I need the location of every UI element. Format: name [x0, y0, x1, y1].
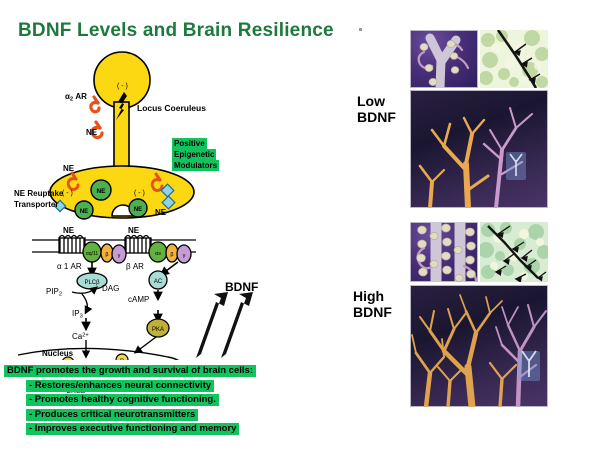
svg-text:P: P [120, 359, 124, 360]
svg-text:αs: αs [155, 251, 161, 257]
pip2-label: PIP2 [46, 287, 62, 297]
svg-text:γ: γ [118, 253, 121, 259]
dendrite-microscopy-low [480, 30, 548, 88]
svg-text:( - ): ( - ) [62, 190, 73, 197]
signaling-diagram: ( - ) ( - ) ( - ) NE NE NE [0, 40, 330, 360]
svg-text:β: β [105, 252, 108, 258]
ne-label-terminal-right: NE [155, 208, 166, 217]
ne-label-membrane-left: NE [63, 226, 74, 235]
dag-label: DAG [102, 284, 119, 293]
bdnf-upregulation-arrows [196, 292, 253, 358]
svg-text:NE: NE [96, 188, 106, 195]
ne-label-soma: NE [63, 164, 74, 173]
g-protein-alpha1: αq/11 β γ [83, 242, 126, 263]
svg-text:NE: NE [134, 207, 142, 213]
page-title: BDNF Levels and Brain Resilience [18, 20, 334, 42]
dendritic-spine-render-high [410, 222, 478, 282]
gpcr-helices-beta [125, 236, 151, 254]
nucleus-label: Nucleus [42, 349, 73, 358]
svg-text:AC: AC [154, 279, 163, 285]
dendritic-spine-render-low [410, 30, 478, 88]
svg-text:PKA: PKA [152, 327, 164, 333]
calcium-label: Ca2+ [72, 332, 89, 341]
list-item: - Produces critical neurotransmitters [26, 409, 198, 421]
pem-line-2: Epigenetic [172, 149, 216, 160]
bdnf-benefits-list: BDNF promotes the growth and survival of… [4, 365, 324, 438]
svg-text:( - ): ( - ) [117, 83, 128, 90]
svg-text:( - ): ( - ) [134, 190, 145, 197]
locus-coeruleus-label: Locus Coeruleus [137, 103, 206, 113]
slide-canvas: BDNF Levels and Brain Resilience ( - ) [0, 0, 600, 450]
beta-ar-label: β AR [126, 262, 144, 271]
alpha1-ar-label: α 1 AR [57, 262, 82, 271]
positive-epigenetic-modulators-callout: Positive Epigenetic Modulators [172, 138, 219, 171]
list-item: - Restores/enhances neural connectivity [26, 380, 214, 392]
pem-line-3: Modulators [172, 160, 219, 171]
dendrite-microscopy-high [480, 222, 548, 282]
ne-label-membrane-right: NE [128, 226, 139, 235]
high-bdnf-label: HighBDNF [353, 288, 392, 320]
artifact-dot [359, 28, 362, 31]
bullet-heading: BDNF promotes the growth and survival of… [4, 365, 256, 377]
gpcr-helices-alpha1 [59, 236, 85, 254]
camp-label: cAMP [128, 295, 149, 304]
bdnf-label: BDNF [225, 280, 258, 294]
dendritic-arbor-high [410, 285, 548, 407]
ne-reuptake-transporter-label: NE Reuptake Transporter [14, 188, 63, 210]
svg-text:β: β [170, 252, 173, 258]
pem-line-1: Positive [172, 138, 207, 149]
list-item: - Promotes healthy cognitive functioning… [26, 394, 219, 406]
g-protein-beta: αs β γ [149, 242, 191, 263]
svg-text:NE: NE [80, 209, 88, 215]
svg-text:αq/11: αq/11 [86, 251, 98, 257]
ne-label-terminal-left: NE [86, 128, 97, 137]
ip3-label: IP3 [72, 309, 83, 319]
svg-text:PLCβ: PLCβ [84, 280, 100, 286]
low-bdnf-label: LowBDNF [357, 93, 396, 125]
alpha2-ar-label: α2 AR [65, 92, 87, 102]
svg-text:γ: γ [183, 253, 186, 259]
list-item: - Improves executive functioning and mem… [26, 423, 239, 435]
dendritic-arbor-low [410, 90, 548, 208]
